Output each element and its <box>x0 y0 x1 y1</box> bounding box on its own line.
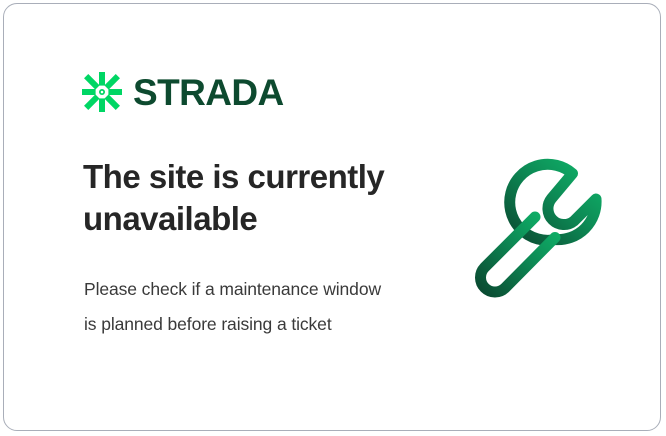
strada-asterisk-icon <box>82 72 122 112</box>
error-page: STRADA The site is currently unavailable… <box>0 0 666 436</box>
brand-lockup: STRADA <box>82 72 284 112</box>
status-card: STRADA The site is currently unavailable… <box>3 3 661 431</box>
page-description: Please check if a maintenance window is … <box>84 272 394 342</box>
brand-name: STRADA <box>133 74 284 111</box>
page-title: The site is currently unavailable <box>83 156 423 239</box>
